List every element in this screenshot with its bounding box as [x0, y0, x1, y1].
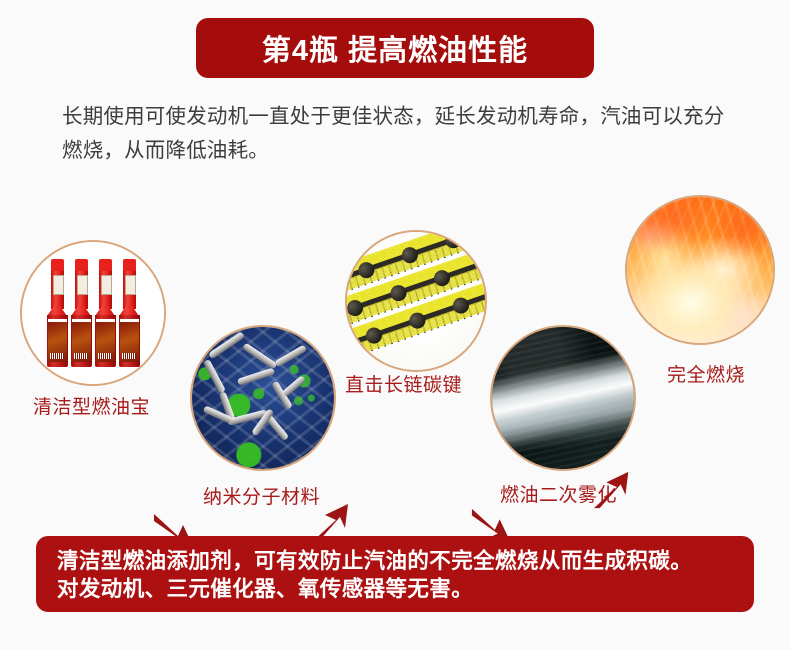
bottom-banner-line-1: 清洁型燃油添加剂，可有效防止汽油的不完全燃烧从而生成积碳。: [57, 547, 734, 575]
process-diagram: 清洁型燃油宝 纳米分子材: [0, 180, 790, 520]
step-label-chain: 直击长链碳键: [345, 370, 462, 397]
fuel-additive-bottles-photo: [22, 242, 164, 384]
bottle: [47, 259, 68, 367]
bottle: [119, 259, 140, 367]
long-chain-carbon-bond-photo: [347, 232, 485, 370]
promo-page: 第4瓶 提高燃油性能 长期使用可使发动机一直处于更佳状态，延长发动机寿命，汽油可…: [0, 0, 790, 650]
bottom-banner-line-2: 对发动机、三元催化器、氧传感器等无害。: [57, 575, 734, 603]
step-image-nano: [190, 325, 336, 471]
step-image-flame: [625, 195, 775, 345]
bottom-banner: 清洁型燃油添加剂，可有效防止汽油的不完全燃烧从而生成积碳。 对发动机、三元催化器…: [36, 536, 754, 612]
arrow-right-up-icon: [592, 470, 636, 512]
complete-combustion-flame-photo: [627, 197, 773, 343]
fuel-atomization-spray-photo: [492, 327, 634, 469]
step-label-flame: 完全燃烧: [667, 360, 745, 387]
step-image-spray: [490, 325, 636, 471]
step-label-bottles: 清洁型燃油宝: [33, 392, 150, 419]
step-image-bottles: [20, 240, 166, 386]
step-image-chain: [345, 230, 487, 372]
step-label-nano: 纳米分子材料: [203, 482, 320, 509]
intro-paragraph: 长期使用可使发动机一直处于更佳状态，延长发动机寿命，汽油可以充分燃烧，从而降低油…: [62, 100, 742, 168]
bottle: [95, 259, 116, 367]
title-banner-text: 第4瓶 提高燃油性能: [262, 27, 528, 69]
title-banner: 第4瓶 提高燃油性能: [196, 18, 594, 78]
bottle: [71, 259, 92, 367]
molecular-bonds: [192, 327, 334, 469]
